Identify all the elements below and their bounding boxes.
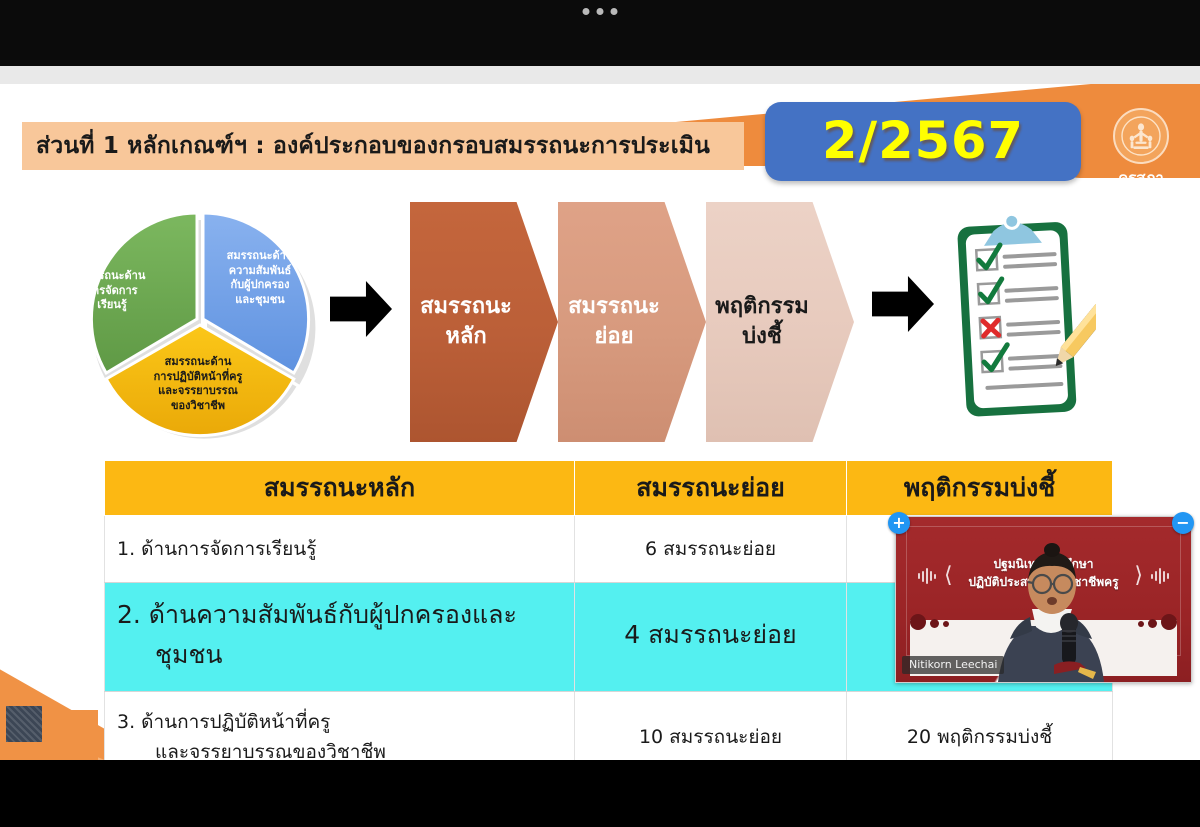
cell-subcompetency: 10 สมรรถนะย่อย [575,692,847,761]
waveform-left-icon [918,567,936,585]
cell-competency-line2: และจรรยาบรรณของวิชาชีพ [117,737,562,760]
cell-subcompetency: 6 สมรรถนะย่อย [575,516,847,583]
term-badge: 2/2567 [765,102,1081,181]
dot [597,8,604,15]
dot [583,8,590,15]
cell-subcompetency: 4 สมรรถนะย่อย [575,583,847,692]
table-row: 3. ด้านการปฏิบัติหน้าที่ครู และจรรยาบรรณ… [105,692,1113,761]
table-header-competency: สมรรถนะหลัก [105,461,575,516]
speaker-video-panel[interactable]: ปฐมนิเทศการศึกษา ปฏิบัติประสบการณ์วิชาชี… [895,516,1192,683]
table-header-subcompetency: สมรรถนะย่อย [575,461,847,516]
chevron-right-decor-icon: ⟩ [1134,565,1143,587]
cell-indicators: 20 พฤติกรรมบ่งชี้ [847,692,1113,761]
more-dots-icon[interactable] [583,8,618,15]
khurusapha-logo-label: คุรุสภา [1118,166,1164,190]
cell-competency: 1. ด้านการจัดการเรียนรู้ [105,516,575,583]
term-badge-text: 2/2567 [822,112,1024,171]
khurusapha-logo: คุรุสภา [1104,106,1178,192]
video-zoom-in-button[interactable]: + [888,512,910,534]
dot [611,8,618,15]
flow-chevron-1-label: สมรรถนะหลัก [410,292,518,353]
cell-competency-line2: ชุมชน [117,635,562,675]
corner-square-icon [6,706,42,742]
competency-pie-diagram: สมรรถนะด้านการจัดการเรียนรู้ สมรรถนะด้าน… [52,209,352,439]
table-header-row: สมรรถนะหลัก สมรรถนะย่อย พฤติกรรมบ่งชี้ [105,461,1113,516]
khurusapha-seal-icon [1113,108,1169,164]
checklist-clipboard-icon [946,206,1096,436]
cell-competency: 2. ด้านความสัมพันธ์กับผู้ปกครองและ ชุมชน [105,583,575,692]
screen: ส่วนที่ 1 หลักเกณฑ์ฯ : องค์ประกอบของกรอบ… [0,0,1200,827]
video-zoom-out-button[interactable]: − [1172,512,1194,534]
speaker-name-label: Nitikorn Leechai [902,656,1004,674]
cell-competency-line1: 2. ด้านความสัมพันธ์กับผู้ปกครองและ [117,600,517,629]
speaker-figure [992,539,1110,682]
page-title: ส่วนที่ 1 หลักเกณฑ์ฯ : องค์ประกอบของกรอบ… [22,122,744,170]
chevron-left-decor-icon: ⟨ [944,565,953,587]
flow-chevron-2-label: สมรรถนะย่อย [558,292,666,353]
waveform-right-icon [1151,567,1169,585]
page-title-text: ส่วนที่ 1 หลักเกณฑ์ฯ : องค์ประกอบของกรอบ… [36,128,710,164]
cell-competency: 3. ด้านการปฏิบัติหน้าที่ครู และจรรยาบรรณ… [105,692,575,761]
window-top-bar [0,0,1200,66]
table-header-indicators: พฤติกรรมบ่งชี้ [847,461,1113,516]
cell-competency-line1: 3. ด้านการปฏิบัติหน้าที่ครู [117,711,330,733]
header-grey-strip [0,66,1200,84]
video-stage: ปฐมนิเทศการศึกษา ปฏิบัติประสบการณ์วิชาชี… [896,517,1191,682]
flow-chevron-3-label: พฤติกรรมบ่งชี้ [706,292,814,353]
